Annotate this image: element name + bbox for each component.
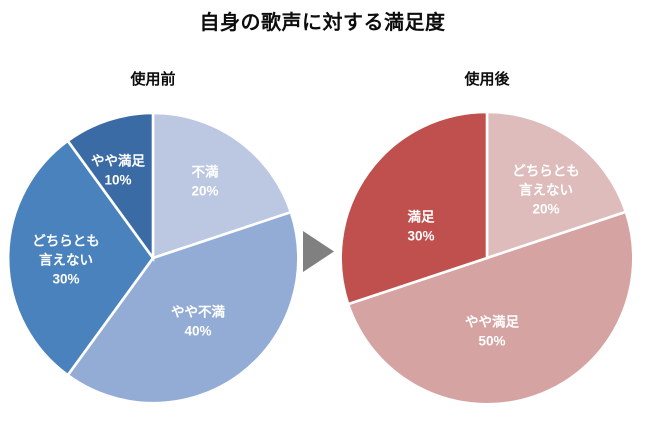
pie-label-before-fuman-name: 不満 [192, 164, 219, 180]
pie-label-after-manzoku-name: 満足 [408, 209, 435, 225]
right-arrow-icon [303, 231, 334, 272]
pie-chart-figure: 自身の歌声に対する満足度 使用前 使用後 不満 20% やや不満 40% どちら… [0, 0, 645, 423]
pie-label-after-manzoku-pct: 30% [407, 229, 434, 244]
pie-chart-after: どちらとも 言えない 20% やや満足 50% 満足 30% [341, 112, 634, 404]
pie-label-before-yaya-fuman-name: やや不満 [171, 304, 225, 320]
pie-label-before-yaya-manzoku-name: やや満足 [91, 153, 145, 169]
pie-label-after-yaya-manzoku-name: やや満足 [465, 314, 519, 330]
pie-label-after-dochiratomo-pct: 20% [532, 202, 559, 217]
pie-label-after-dochiratomo-line1: どちらとも [512, 164, 580, 179]
pie-label-before-yaya-manzoku-pct: 10% [104, 173, 131, 188]
pie-label-before-dochiratomo-line2: 言えない [39, 252, 93, 268]
pie-label-before-dochiratomo-line1: どちらとも [32, 234, 100, 249]
pie-label-before-dochiratomo-pct: 30% [52, 272, 79, 287]
pie-label-before-yaya-fuman-pct: 40% [184, 324, 211, 339]
pies-svg: 不満 20% やや不満 40% どちらとも 言えない 30% やや満足 10% [0, 0, 645, 423]
pie-label-before-fuman-pct: 20% [191, 184, 218, 199]
pie-chart-before: 不満 20% やや不満 40% どちらとも 言えない 30% やや満足 10% [8, 113, 298, 403]
pie-label-after-yaya-manzoku-pct: 50% [478, 334, 505, 349]
pie-label-after-dochiratomo-line2: 言えない [519, 182, 573, 198]
